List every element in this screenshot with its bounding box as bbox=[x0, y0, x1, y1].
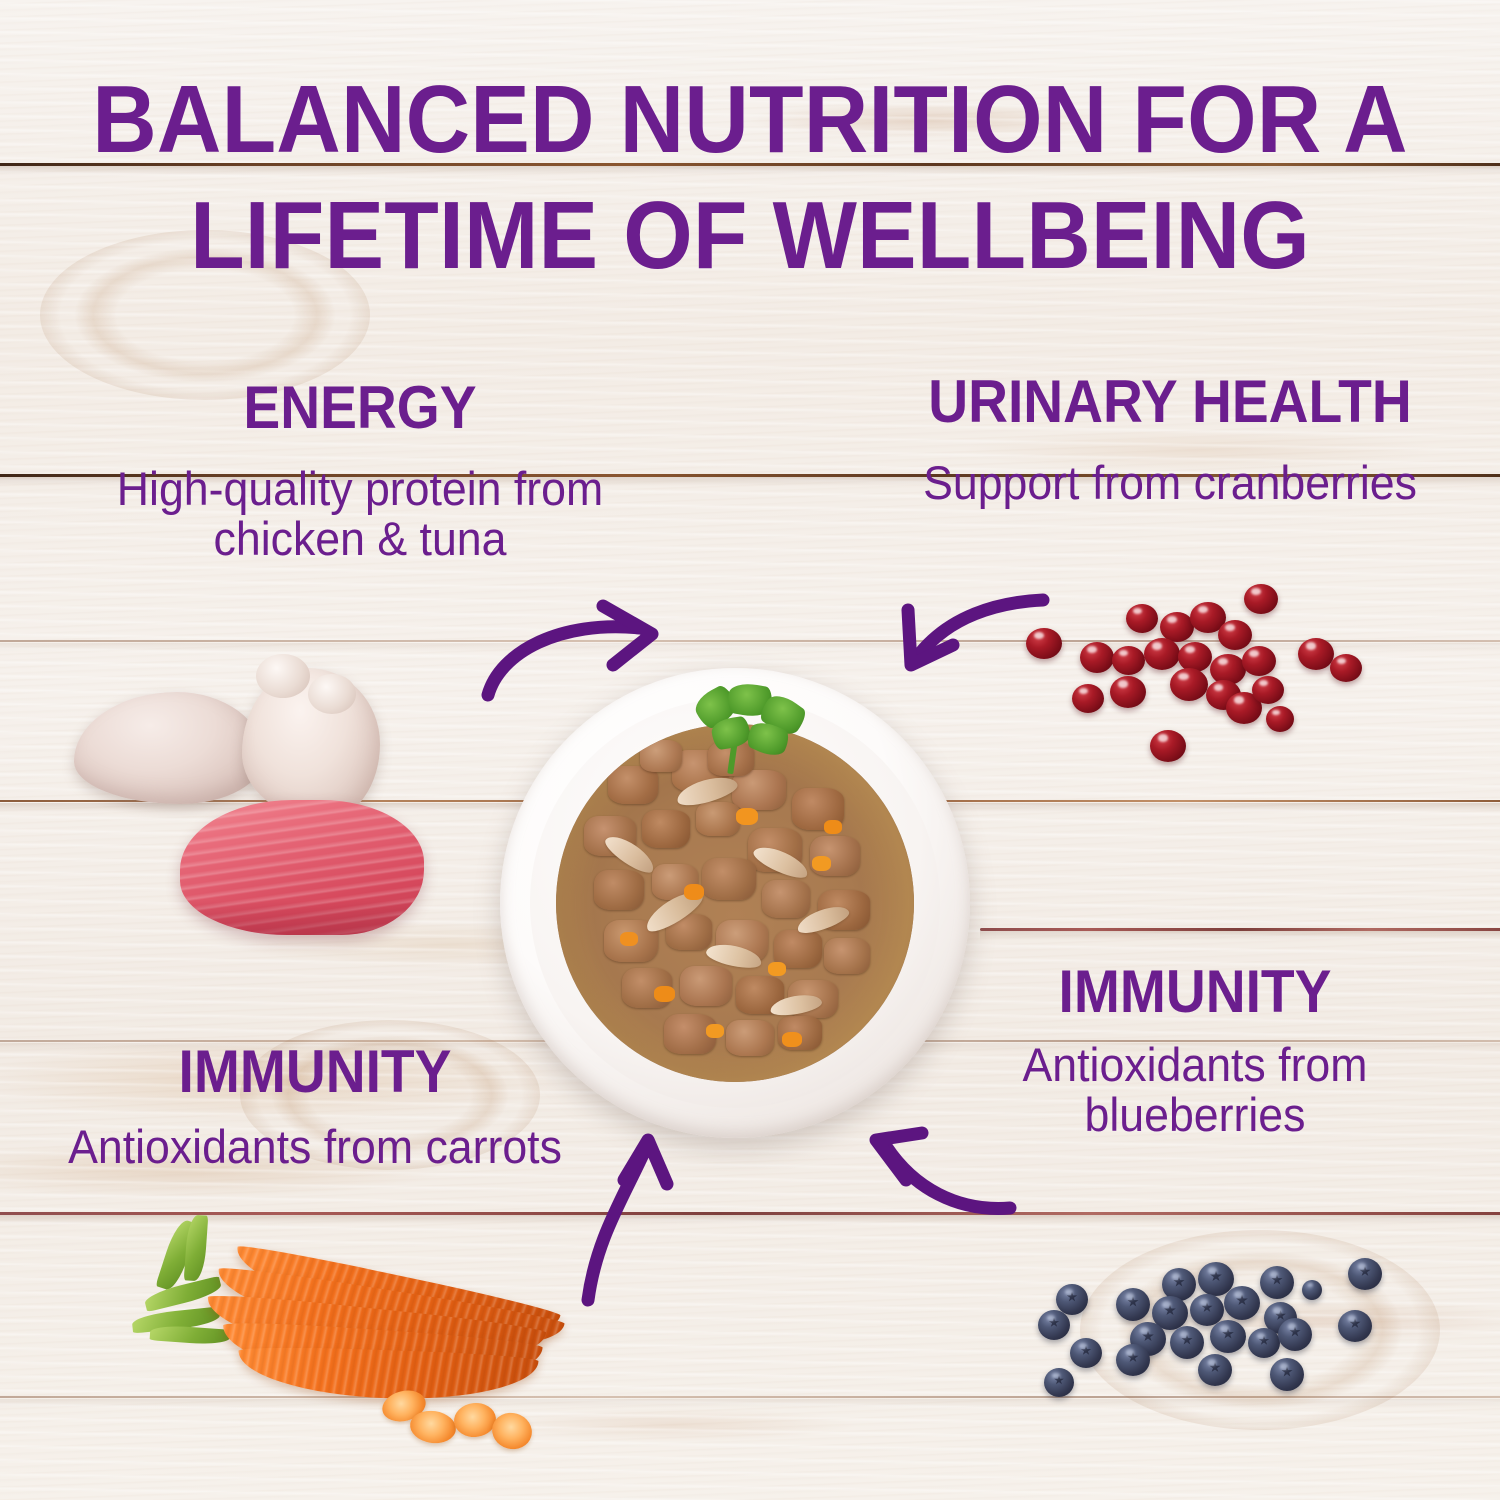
arrow-group bbox=[0, 0, 1500, 1500]
product-benefits-poster: BALANCED NUTRITION FOR A LIFETIME OF WEL… bbox=[0, 0, 1500, 1500]
arrow-carrots-to-bowl bbox=[588, 1152, 644, 1300]
